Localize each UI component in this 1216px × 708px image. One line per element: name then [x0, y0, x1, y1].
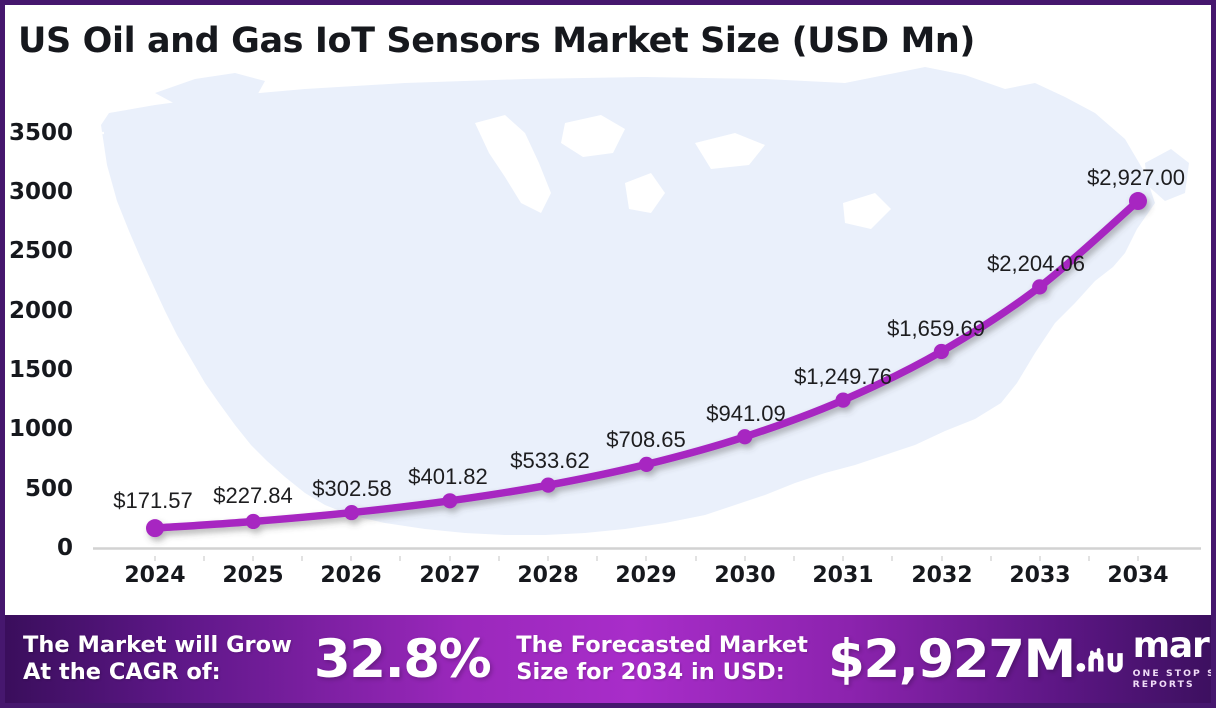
chart-plot-area: 3500 3000 2500 2000 1500 1000 500 0 2024…	[5, 5, 1211, 605]
data-point-marker[interactable]	[541, 478, 556, 493]
data-point-label: $941.09	[706, 401, 786, 427]
y-axis-ticks	[93, 133, 104, 348]
y-axis-label: 0	[5, 535, 73, 561]
x-axis-label: 2029	[601, 563, 691, 588]
data-point-marker[interactable]	[836, 393, 851, 408]
market-us-logo-text: market.us ONE STOP SHOP FOR THE REPORTS	[1133, 628, 1211, 690]
x-axis-label: 2028	[503, 563, 593, 588]
data-point-marker[interactable]	[344, 505, 359, 520]
data-point-label: $1,659.69	[887, 316, 985, 342]
x-axis-label: 2034	[1093, 563, 1183, 588]
logo-wordmark: market.us	[1133, 628, 1211, 664]
footer-banner: The Market will Grow At the CAGR of: 32.…	[5, 615, 1211, 703]
y-axis-label: 500	[5, 476, 73, 502]
y-axis-label: 3000	[5, 179, 73, 205]
data-point-marker[interactable]	[737, 429, 752, 444]
data-point-label: $533.62	[510, 448, 590, 474]
market-us-logo-mark	[1075, 636, 1127, 682]
data-point-label: $302.58	[312, 476, 392, 502]
x-axis-label: 2027	[405, 563, 495, 588]
x-axis-label: 2033	[995, 563, 1085, 588]
x-axis-ticks	[155, 556, 1138, 561]
x-axis-label: 2026	[306, 563, 396, 588]
market-size-markers	[146, 192, 1147, 537]
data-point-marker[interactable]	[1032, 279, 1047, 294]
y-axis-label: 1000	[5, 416, 73, 442]
data-point-marker[interactable]	[442, 493, 457, 508]
data-point-marker[interactable]	[639, 457, 654, 472]
forecast-caption: The Forecasted Market Size for 2034 in U…	[516, 632, 808, 685]
forecast-value: $2,927M	[828, 633, 1075, 686]
y-axis-label: 2500	[5, 238, 73, 264]
data-point-label: $401.82	[408, 464, 488, 490]
market-us-logo[interactable]: market.us ONE STOP SHOP FOR THE REPORTS	[1075, 628, 1211, 690]
y-axis-label: 3500	[5, 120, 73, 146]
data-point-label: $2,204.06	[987, 251, 1085, 277]
y-axis-label: 2000	[5, 298, 73, 324]
data-point-label: $1,249.76	[794, 364, 892, 390]
infographic-card: US Oil and Gas IoT Sensors Market Size (…	[0, 0, 1216, 708]
page-title: US Oil and Gas IoT Sensors Market Size (…	[18, 21, 975, 61]
x-axis-label: 2032	[897, 563, 987, 588]
cagr-caption-line2: At the CAGR of:	[23, 659, 292, 686]
data-point-label: $708.65	[606, 427, 686, 453]
x-axis-label: 2031	[798, 563, 888, 588]
data-point-marker[interactable]	[934, 344, 949, 359]
forecast-caption-line1: The Forecasted Market	[516, 632, 808, 659]
x-axis-label: 2024	[110, 563, 200, 588]
y-axis-label: 1500	[5, 357, 73, 383]
data-point-marker[interactable]	[1129, 192, 1147, 210]
data-point-label: $171.57	[113, 488, 193, 514]
logo-tagline: ONE STOP SHOP FOR THE REPORTS	[1133, 668, 1211, 690]
data-point-label: $227.84	[213, 483, 293, 509]
cagr-caption: The Market will Grow At the CAGR of:	[23, 632, 292, 685]
forecast-caption-line2: Size for 2034 in USD:	[516, 659, 808, 686]
x-axis-label: 2030	[700, 563, 790, 588]
data-point-label: $2,927.00	[1087, 165, 1185, 191]
cagr-value: 32.8%	[314, 633, 490, 686]
cagr-caption-line1: The Market will Grow	[23, 632, 292, 659]
data-point-marker[interactable]	[146, 519, 164, 537]
data-point-marker[interactable]	[246, 514, 261, 529]
x-axis-label: 2025	[208, 563, 298, 588]
line-chart-svg	[5, 5, 1211, 605]
